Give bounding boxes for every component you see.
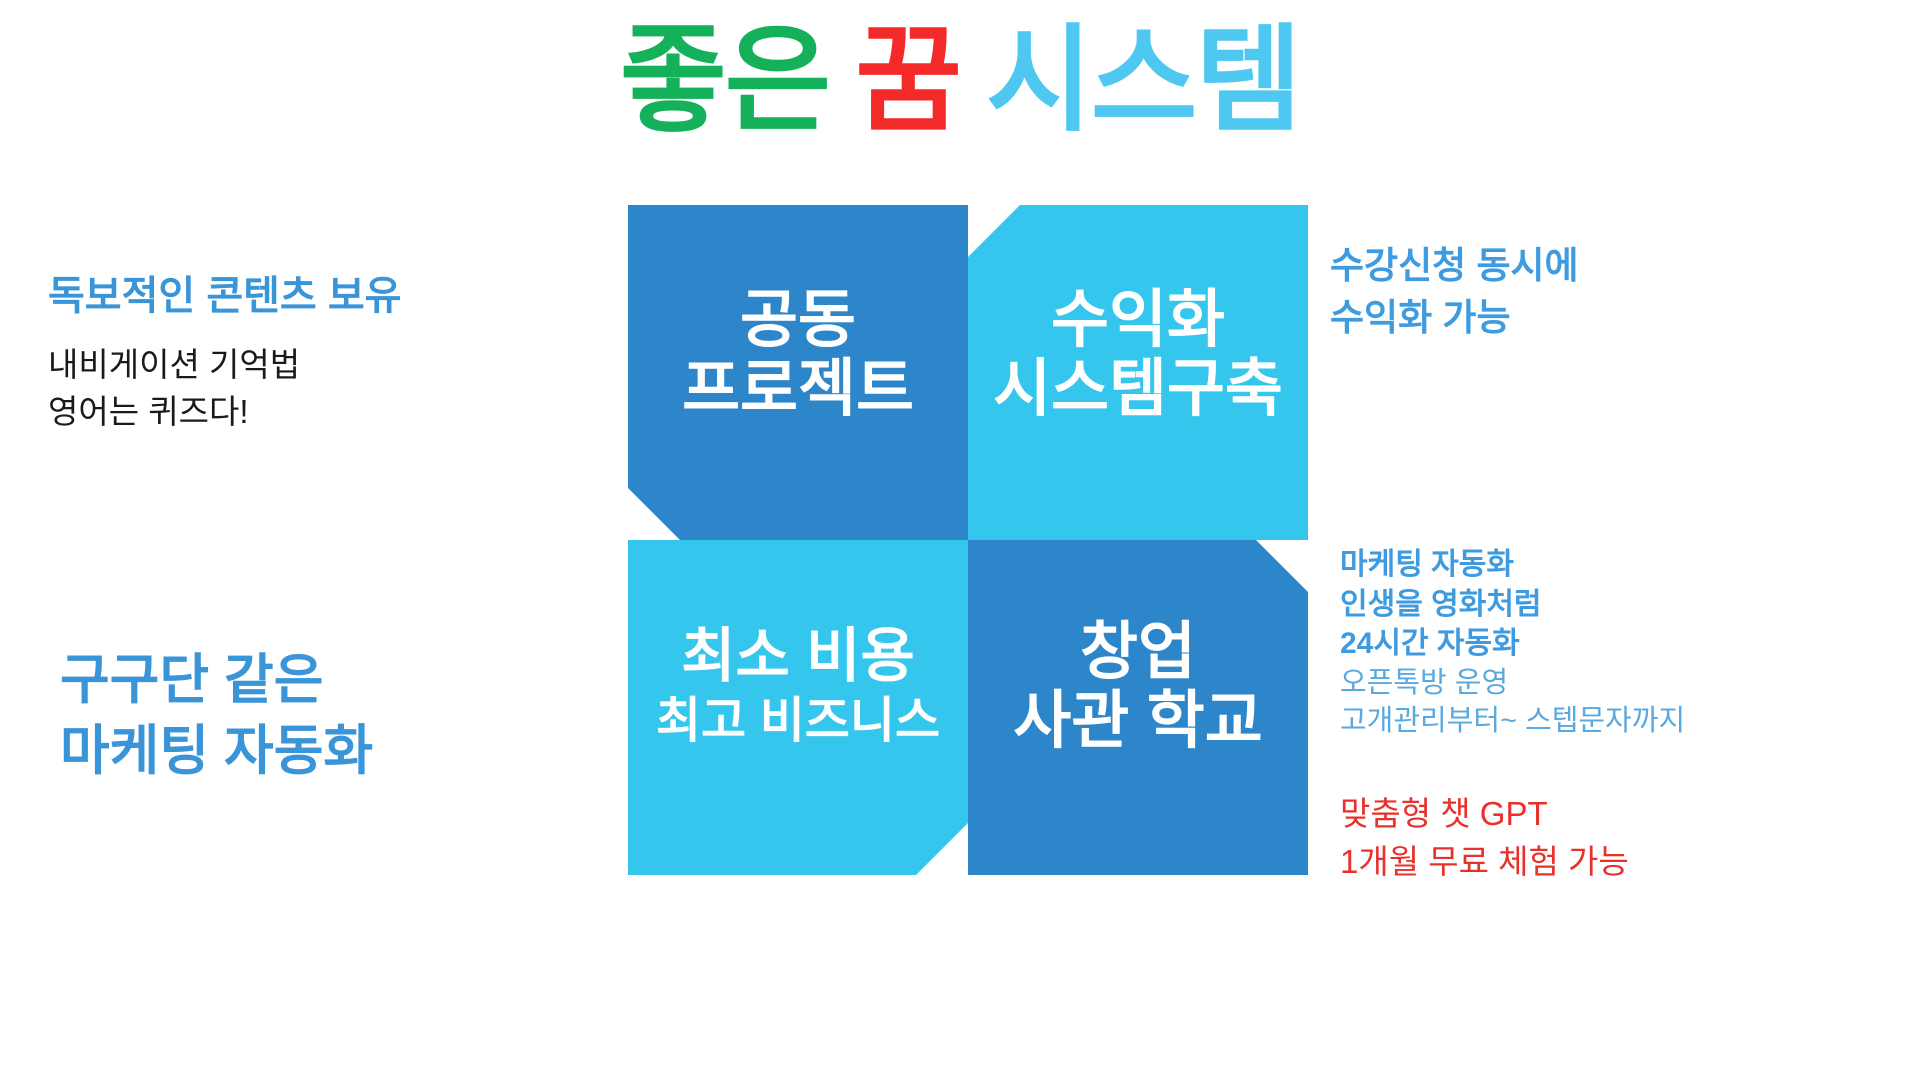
quadrant-min-cost[interactable]: 최소 비용 최고 비즈니스 <box>628 540 968 875</box>
title-part-2: 꿈 <box>855 8 960 153</box>
quadrant-startup-school-line-1: 창업 <box>1080 618 1196 686</box>
quadrant-monetization[interactable]: 수익화 시스템구축 <box>968 205 1308 540</box>
right-top-note: 수강신청 동시에 수익화 가능 <box>1330 240 1850 344</box>
title-part-3: 시스템 <box>986 8 1300 153</box>
slide-canvas: 좋은꿈시스템 독보적인 콘텐츠 보유 내비게이션 기억법 영어는 퀴즈다! 구구… <box>0 0 1920 1080</box>
quadrant-joint-project-line-1: 공동 <box>740 286 856 354</box>
right-top-line-1: 수강신청 동시에 <box>1330 240 1850 292</box>
left-content-column: 독보적인 콘텐츠 보유 내비게이션 기억법 영어는 퀴즈다! <box>48 272 588 436</box>
right-feature-item: 인생을 영화처럼 <box>1340 585 1880 625</box>
quadrant-monetization-line-1: 수익화 <box>1051 286 1225 354</box>
quadrant-startup-school-line-2: 사관 학교 <box>1013 687 1262 755</box>
quadrant-monetization-line-2: 시스템구축 <box>993 355 1283 423</box>
left-bottom-heading: 구구단 같은 마케팅 자동화 <box>60 645 580 788</box>
page-title: 좋은꿈시스템 <box>0 8 1920 153</box>
quadrant-startup-school[interactable]: 창업 사관 학교 <box>968 540 1308 875</box>
right-feature-item: 마케팅 자동화 <box>1340 545 1880 585</box>
title-part-1: 좋은 <box>620 8 829 153</box>
left-sub-line-2: 영어는 퀴즈다! <box>48 389 588 436</box>
left-heading: 독보적인 콘텐츠 보유 <box>48 272 588 320</box>
right-feature-item: 오픈톡방 운영 <box>1340 664 1880 702</box>
left-bottom-line-1: 구구단 같은 <box>60 645 580 716</box>
quadrant-min-cost-line-2: 최고 비즈니스 <box>656 695 940 748</box>
right-promo-line-1: 맞춤형 챗 GPT <box>1340 790 1880 838</box>
left-sub-list: 내비게이션 기억법 영어는 퀴즈다! <box>48 342 588 436</box>
left-bottom-line-2: 마케팅 자동화 <box>60 716 580 787</box>
quadrant-grid: 공동 프로젝트 수익화 시스템구축 최소 비용 최고 비즈니스 창업 사관 학교 <box>628 205 1308 875</box>
right-feature-item: 고개관리부터~ 스텝문자까지 <box>1340 702 1880 740</box>
right-top-line-2: 수익화 가능 <box>1330 292 1850 344</box>
right-promo-note: 맞춤형 챗 GPT 1개월 무료 체험 가능 <box>1340 790 1880 886</box>
right-feature-item: 24시간 자동화 <box>1340 624 1880 664</box>
quadrant-joint-project[interactable]: 공동 프로젝트 <box>628 205 968 540</box>
quadrant-joint-project-line-2: 프로젝트 <box>682 355 914 423</box>
quadrant-min-cost-line-1: 최소 비용 <box>681 625 915 689</box>
left-sub-line-1: 내비게이션 기억법 <box>48 342 588 389</box>
right-feature-list: 마케팅 자동화 인생을 영화처럼 24시간 자동화 오픈톡방 운영 고개관리부터… <box>1340 545 1880 740</box>
right-promo-line-2: 1개월 무료 체험 가능 <box>1340 838 1880 886</box>
